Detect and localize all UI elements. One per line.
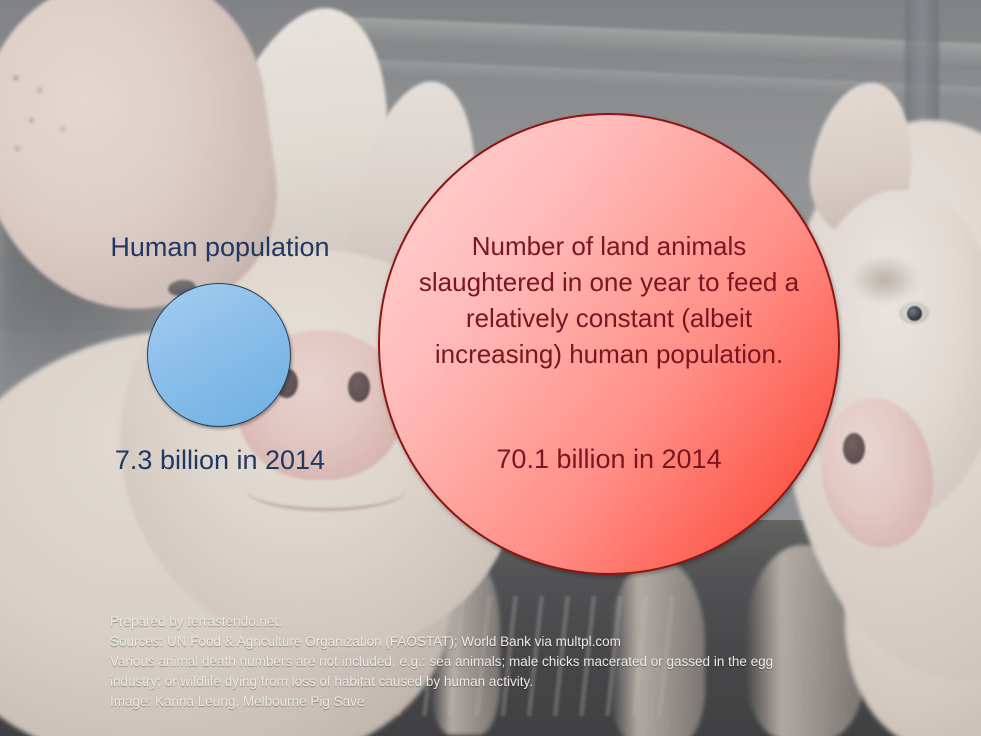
ear-spots: [0, 42, 124, 187]
credits-block: Prepared by terrastendo.net. Sources: UN…: [110, 612, 810, 712]
pig-right-nostril: [843, 433, 865, 464]
credits-line-sources: Sources: UN Food & Agriculture Organizat…: [110, 632, 810, 652]
credits-line-image: Image: Karina Leung, Melbourne Pig Save: [110, 692, 810, 712]
credits-line-prepared-by: Prepared by terrastendo.net.: [110, 612, 810, 632]
human-population-title: Human population: [0, 232, 440, 263]
pig-right-pupil: [907, 306, 922, 321]
pig-right-dirt-smudge: [850, 255, 920, 305]
infographic-slide: Human population 7.3 billion in 2014 Num…: [0, 0, 981, 736]
human-population-value: 7.3 billion in 2014: [0, 445, 440, 476]
credits-line-exclusions-2: industry; or wildlife dying from loss of…: [110, 672, 810, 692]
animals-slaughtered-caption: Number of land animals slaughtered in on…: [409, 228, 809, 372]
credits-line-exclusions-1: Various animal death numbers are not inc…: [110, 652, 810, 672]
human-population-bubble: [147, 283, 291, 427]
animals-slaughtered-value: 70.1 billion in 2014: [409, 444, 809, 475]
pig-left-nostril: [348, 372, 370, 402]
